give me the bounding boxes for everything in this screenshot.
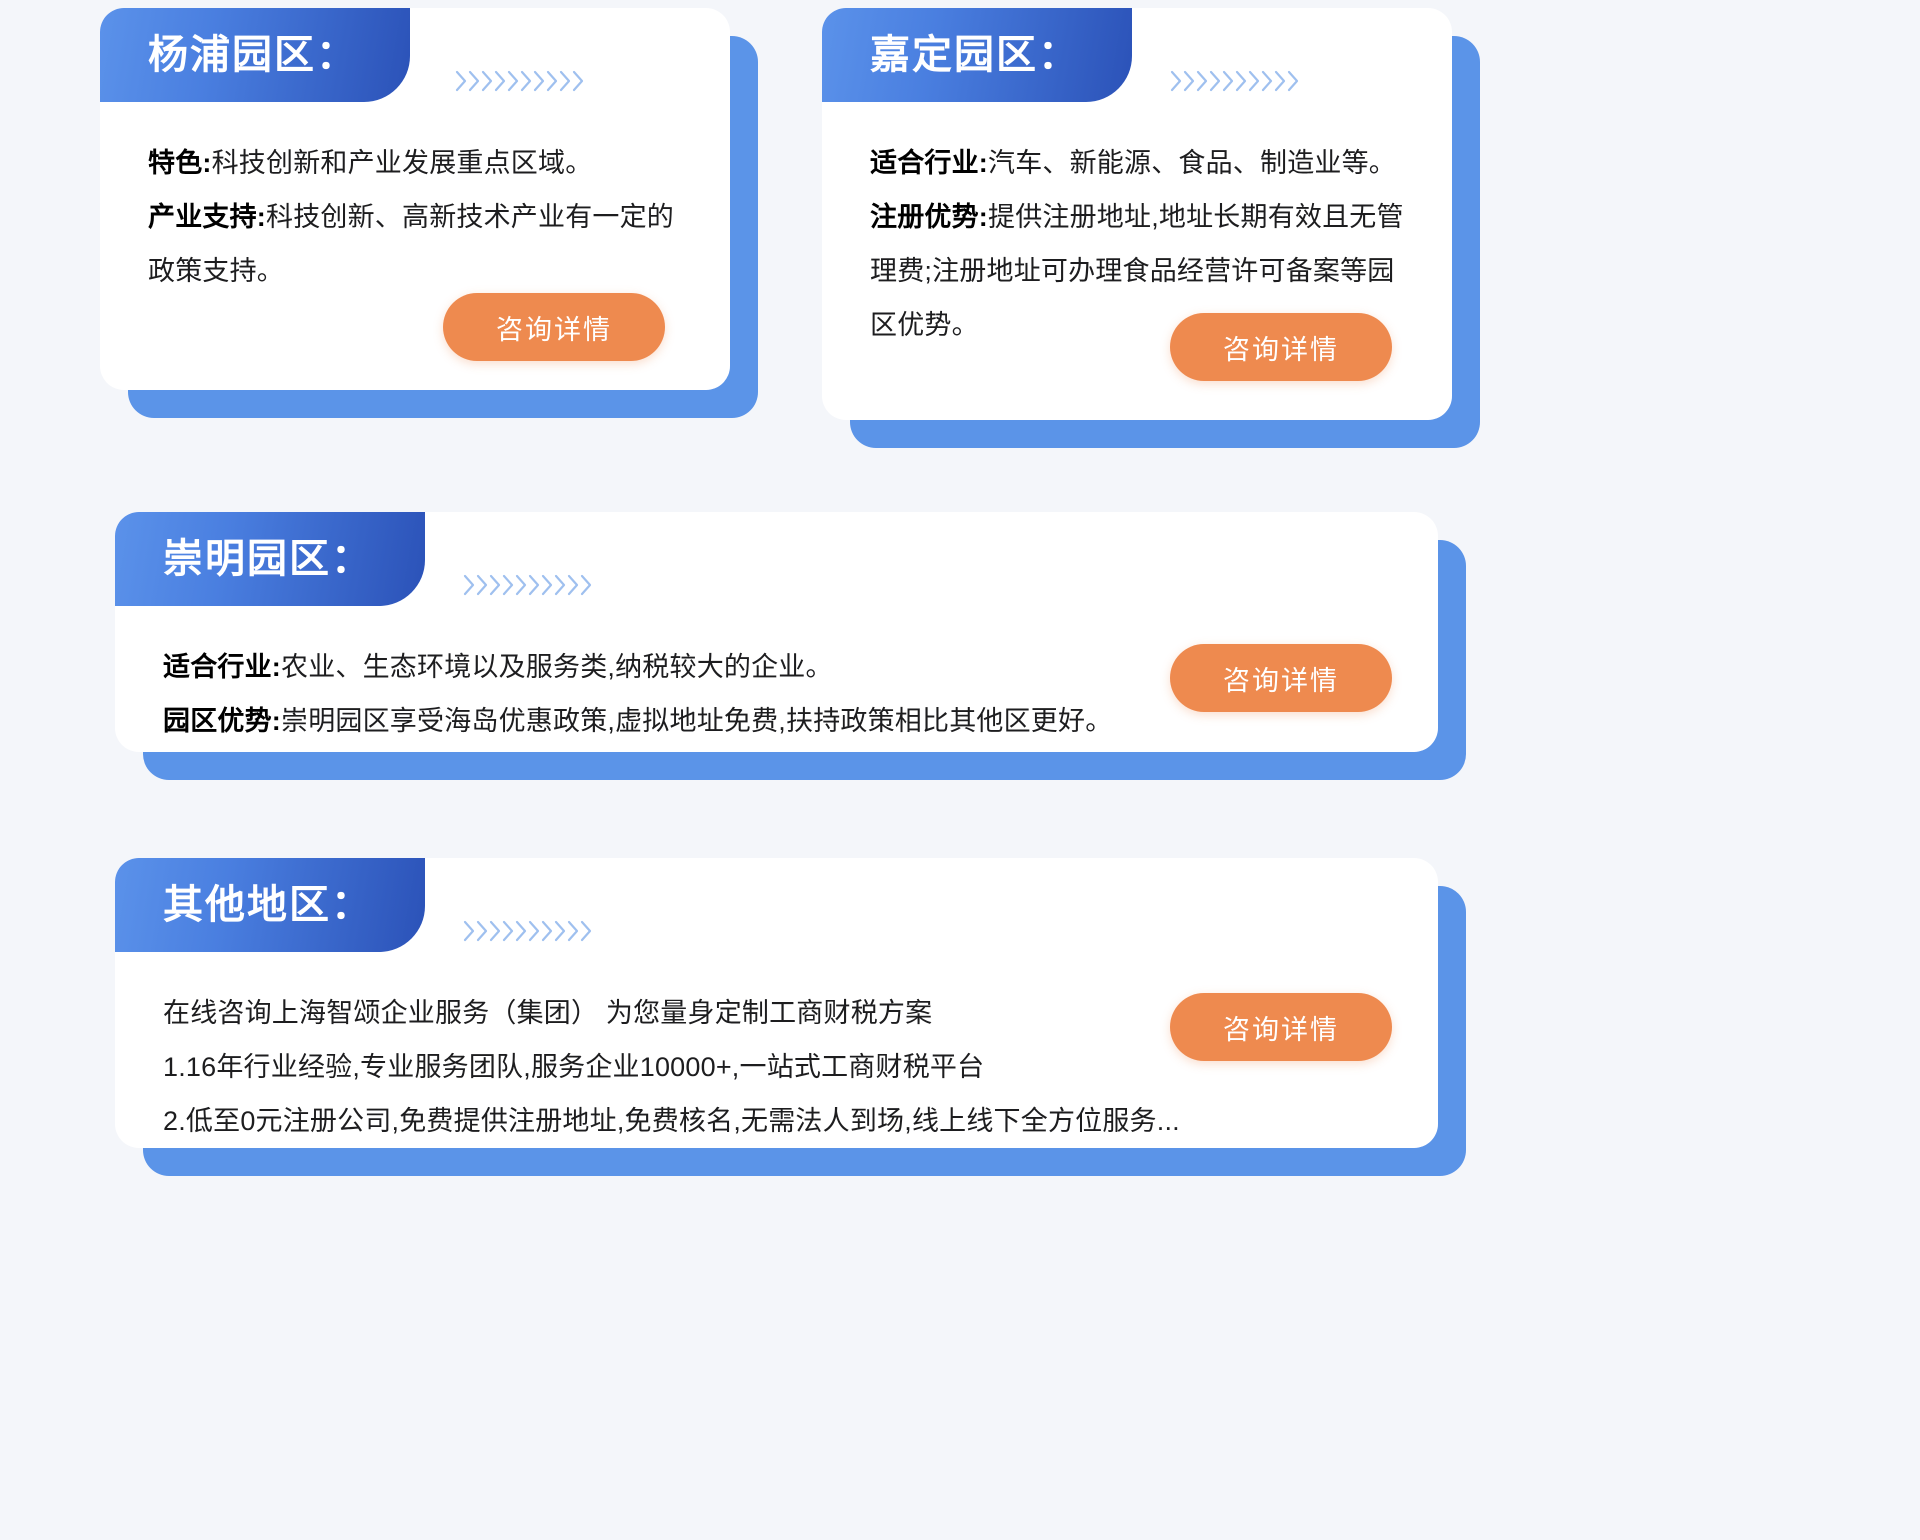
chevron-right-icon xyxy=(554,920,567,942)
line-label: 园区优势: xyxy=(163,706,281,736)
chevron-right-icon xyxy=(1209,70,1222,92)
card-title: 崇明园区： xyxy=(163,539,373,579)
chevron-right-icon xyxy=(468,70,481,92)
body-line: 特色:科技创新和产业发展重点区域。 xyxy=(148,136,690,190)
card-surface: 其他地区： 在线咨询上海智颂企业服务（集团） 为您量身定制工商财税方案 1.16… xyxy=(115,858,1438,1148)
chevron-strip xyxy=(463,574,593,596)
card-header-ribbon: 杨浦园区： xyxy=(100,8,410,102)
chevron-right-icon xyxy=(1287,70,1300,92)
park-cards-canvas: 杨浦园区： 特色:科技创新和产业发展重点区域。 产业支持:科技创新、高新技术产业… xyxy=(0,0,1920,1540)
line-text: 科技创新和产业发展重点区域。 xyxy=(212,148,593,178)
consult-details-button[interactable]: 咨询详情 xyxy=(443,293,665,361)
card-surface: 嘉定园区： 适合行业:汽车、新能源、食品、制造业等。 注册优势:提供注册地址,地… xyxy=(822,8,1452,420)
body-line: 2.低至0元注册公司,免费提供注册地址,免费核名,无需法人到场,线上线下全方位服… xyxy=(163,1094,1138,1148)
consult-details-button[interactable]: 咨询详情 xyxy=(1170,644,1392,712)
chevron-right-icon xyxy=(1235,70,1248,92)
chevron-right-icon xyxy=(507,70,520,92)
card-jiading: 嘉定园区： 适合行业:汽车、新能源、食品、制造业等。 注册优势:提供注册地址,地… xyxy=(822,8,1452,420)
body-line: 注册优势:提供注册地址,地址长期有效且无管 xyxy=(870,190,1412,244)
line-text: 2.低至0元注册公司,免费提供注册地址,免费核名,无需法人到场,线上线下全方位服… xyxy=(163,1106,1180,1136)
line-text: 提供注册地址,地址长期有效且无管 xyxy=(988,202,1404,232)
chevron-right-icon xyxy=(515,920,528,942)
chevron-right-icon xyxy=(1248,70,1261,92)
chevron-right-icon xyxy=(520,70,533,92)
line-text: 在线咨询上海智颂企业服务（集团） 为您量身定制工商财税方案 xyxy=(163,998,932,1028)
chevron-right-icon xyxy=(528,574,541,596)
chevron-right-icon xyxy=(546,70,559,92)
card-header-ribbon: 崇明园区： xyxy=(115,512,425,606)
card-surface: 杨浦园区： 特色:科技创新和产业发展重点区域。 产业支持:科技创新、高新技术产业… xyxy=(100,8,730,390)
chevron-right-icon xyxy=(476,920,489,942)
card-body: 特色:科技创新和产业发展重点区域。 产业支持:科技创新、高新技术产业有一定的 政… xyxy=(148,136,690,298)
chevron-right-icon xyxy=(455,70,468,92)
body-line: 理费;注册地址可办理食品经营许可备案等园 xyxy=(870,244,1412,298)
chevron-right-icon xyxy=(1196,70,1209,92)
chevron-right-icon xyxy=(463,574,476,596)
body-line: 适合行业:汽车、新能源、食品、制造业等。 xyxy=(870,136,1412,190)
line-text: 农业、生态环境以及服务类,纳税较大的企业。 xyxy=(281,652,833,682)
line-text: 区优势。 xyxy=(870,310,979,340)
chevron-right-icon xyxy=(541,920,554,942)
body-line: 1.16年行业经验,专业服务团队,服务企业10000+,一站式工商财税平台 xyxy=(163,1040,1138,1094)
card-header-ribbon: 其他地区： xyxy=(115,858,425,952)
card-body: 在线咨询上海智颂企业服务（集团） 为您量身定制工商财税方案 1.16年行业经验,… xyxy=(163,986,1138,1148)
body-line: 园区优势:崇明园区享受海岛优惠政策,虚拟地址免费,扶持政策相比其他区更好。 xyxy=(163,694,1138,748)
chevron-right-icon xyxy=(528,920,541,942)
line-label: 产业支持: xyxy=(148,202,266,232)
chevron-right-icon xyxy=(580,920,593,942)
chevron-right-icon xyxy=(502,920,515,942)
card-title: 杨浦园区： xyxy=(148,35,358,75)
card-title: 嘉定园区： xyxy=(870,35,1080,75)
chevron-right-icon xyxy=(1183,70,1196,92)
body-line: 政策支持。 xyxy=(148,244,690,298)
card-title: 其他地区： xyxy=(163,885,373,925)
card-body: 适合行业:农业、生态环境以及服务类,纳税较大的企业。 园区优势:崇明园区享受海岛… xyxy=(163,640,1138,748)
body-line: 适合行业:农业、生态环境以及服务类,纳税较大的企业。 xyxy=(163,640,1138,694)
chevron-right-icon xyxy=(515,574,528,596)
chevron-right-icon xyxy=(1274,70,1287,92)
line-label: 特色: xyxy=(148,148,212,178)
chevron-right-icon xyxy=(580,574,593,596)
chevron-right-icon xyxy=(1170,70,1183,92)
line-text: 1.16年行业经验,专业服务团队,服务企业10000+,一站式工商财税平台 xyxy=(163,1052,984,1082)
consult-details-button[interactable]: 咨询详情 xyxy=(1170,313,1392,381)
chevron-strip xyxy=(455,70,585,92)
chevron-right-icon xyxy=(1222,70,1235,92)
chevron-right-icon xyxy=(559,70,572,92)
line-label: 适合行业: xyxy=(870,148,988,178)
chevron-strip xyxy=(1170,70,1300,92)
consult-details-button[interactable]: 咨询详情 xyxy=(1170,993,1392,1061)
chevron-right-icon xyxy=(554,574,567,596)
card-surface: 崇明园区： 适合行业:农业、生态环境以及服务类,纳税较大的企业。 园区优势:崇明… xyxy=(115,512,1438,752)
chevron-right-icon xyxy=(541,574,554,596)
chevron-right-icon xyxy=(567,920,580,942)
line-label: 注册优势: xyxy=(870,202,988,232)
line-text: 理费;注册地址可办理食品经营许可备案等园 xyxy=(870,256,1395,286)
card-chongming: 崇明园区： 适合行业:农业、生态环境以及服务类,纳税较大的企业。 园区优势:崇明… xyxy=(115,512,1438,752)
body-line: 在线咨询上海智颂企业服务（集团） 为您量身定制工商财税方案 xyxy=(163,986,1138,1040)
line-text: 科技创新、高新技术产业有一定的 xyxy=(266,202,674,232)
chevron-right-icon xyxy=(489,574,502,596)
chevron-right-icon xyxy=(502,574,515,596)
body-line: 产业支持:科技创新、高新技术产业有一定的 xyxy=(148,190,690,244)
card-header-ribbon: 嘉定园区： xyxy=(822,8,1132,102)
line-text: 汽车、新能源、食品、制造业等。 xyxy=(988,148,1396,178)
chevron-right-icon xyxy=(1261,70,1274,92)
chevron-right-icon xyxy=(533,70,546,92)
chevron-right-icon xyxy=(481,70,494,92)
card-other-regions: 其他地区： 在线咨询上海智颂企业服务（集团） 为您量身定制工商财税方案 1.16… xyxy=(115,858,1438,1148)
chevron-right-icon xyxy=(463,920,476,942)
card-yangpu: 杨浦园区： 特色:科技创新和产业发展重点区域。 产业支持:科技创新、高新技术产业… xyxy=(100,8,730,390)
chevron-right-icon xyxy=(572,70,585,92)
line-text: 崇明园区享受海岛优惠政策,虚拟地址免费,扶持政策相比其他区更好。 xyxy=(281,706,1112,736)
line-label: 适合行业: xyxy=(163,652,281,682)
chevron-right-icon xyxy=(489,920,502,942)
chevron-right-icon xyxy=(567,574,580,596)
line-text: 政策支持。 xyxy=(148,256,284,286)
chevron-strip xyxy=(463,920,593,942)
chevron-right-icon xyxy=(494,70,507,92)
chevron-right-icon xyxy=(476,574,489,596)
